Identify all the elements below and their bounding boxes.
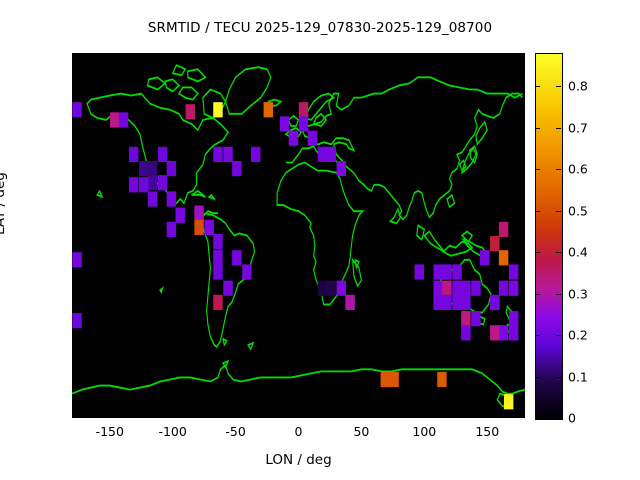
colorbar-tick-label: 0: [568, 411, 576, 426]
data-cell: [213, 264, 222, 279]
data-cell: [433, 295, 442, 310]
colorbar-tick-mark: [535, 294, 540, 295]
data-cell: [337, 161, 346, 176]
data-cell-layer: [72, 53, 525, 418]
colorbar-tick-label: 0.4: [568, 245, 588, 260]
data-cell: [119, 112, 128, 127]
data-cell: [72, 252, 81, 267]
data-cell: [110, 112, 119, 127]
data-cell: [433, 281, 442, 296]
data-cell: [471, 311, 480, 326]
data-cell: [167, 191, 176, 206]
data-cell: [509, 311, 518, 326]
colorbar-tick-mark: [556, 169, 561, 170]
data-cell: [148, 175, 157, 190]
x-axis-tick: -100: [158, 424, 186, 439]
colorbar-tick-label: 0.7: [568, 120, 588, 135]
colorbar-tick-mark: [535, 377, 540, 378]
data-cell: [509, 325, 518, 340]
data-cell: [186, 104, 195, 119]
colorbar-tick-mark: [556, 294, 561, 295]
data-cell: [442, 295, 451, 310]
x-axis-tick: 100: [412, 424, 436, 439]
data-cell: [158, 175, 167, 190]
colorbar-tick-mark: [535, 169, 540, 170]
x-axis-label: LON / deg: [72, 452, 525, 468]
data-cell: [232, 161, 241, 176]
colorbar-tick-label: 0.8: [568, 79, 588, 94]
colorbar-tick-mark: [556, 377, 561, 378]
x-axis-tick: 50: [353, 424, 369, 439]
data-cell: [175, 208, 184, 223]
data-cell: [490, 325, 499, 340]
data-cell: [499, 250, 508, 265]
data-cell: [129, 177, 138, 192]
data-cell: [452, 295, 461, 310]
data-cell: [504, 394, 513, 409]
data-cell: [299, 116, 308, 131]
data-cell: [213, 102, 222, 117]
data-cell: [251, 147, 260, 162]
data-cell: [167, 222, 176, 237]
data-cell: [433, 264, 442, 279]
data-cell: [223, 281, 232, 296]
colorbar-tick-mark: [556, 252, 561, 253]
figure-canvas: SRMTID / TECU 2025-129_07830-2025-129_08…: [0, 0, 640, 480]
data-cell: [345, 295, 354, 310]
data-cell: [452, 281, 461, 296]
data-cell: [204, 220, 213, 235]
data-cell: [452, 264, 461, 279]
data-cell: [264, 102, 273, 117]
data-cell: [499, 281, 508, 296]
data-cell: [139, 161, 148, 176]
x-axis-tick: -50: [225, 424, 245, 439]
data-cell: [461, 295, 470, 310]
data-cell: [72, 102, 81, 117]
data-cell: [213, 295, 222, 310]
data-cell: [381, 372, 390, 387]
data-cell: [461, 325, 470, 340]
colorbar-tick-mark: [535, 211, 540, 212]
data-cell: [471, 281, 480, 296]
data-cell: [72, 313, 81, 328]
data-cell: [337, 281, 346, 296]
data-cell: [299, 102, 308, 117]
data-cell: [499, 325, 508, 340]
colorbar-tick-label: 0.5: [568, 203, 588, 218]
data-cell: [194, 206, 203, 221]
x-axis-tick: 0: [295, 424, 303, 439]
data-cell: [139, 177, 148, 192]
data-cell: [148, 191, 157, 206]
data-cell: [289, 131, 298, 146]
data-cell: [490, 295, 499, 310]
colorbar-tick-mark: [535, 418, 540, 419]
chart-title: SRMTID / TECU 2025-129_07830-2025-129_08…: [0, 20, 640, 36]
data-cell: [326, 147, 335, 162]
data-cell: [490, 236, 499, 251]
data-cell: [242, 264, 251, 279]
data-cell: [148, 161, 157, 176]
colorbar-tick-mark: [535, 335, 540, 336]
data-cell: [318, 147, 327, 162]
data-cell: [509, 281, 518, 296]
data-cell: [461, 311, 470, 326]
colorbar-gradient: [536, 54, 562, 419]
data-cell: [326, 281, 335, 296]
colorbar-tick-mark: [556, 418, 561, 419]
data-cell: [223, 147, 232, 162]
data-cell: [213, 234, 222, 249]
data-cell: [442, 264, 451, 279]
data-cell: [461, 281, 470, 296]
colorbar-tick-mark: [556, 335, 561, 336]
data-cell: [167, 161, 176, 176]
colorbar-tick-mark: [556, 211, 561, 212]
map-plot-area: [72, 53, 525, 418]
colorbar-tick-mark: [535, 128, 540, 129]
data-cell: [499, 222, 508, 237]
data-cell: [308, 131, 317, 146]
x-axis-tick: 150: [475, 424, 499, 439]
data-cell: [129, 147, 138, 162]
data-cell: [318, 281, 327, 296]
data-cell: [280, 116, 289, 131]
colorbar-tick-mark: [556, 86, 561, 87]
colorbar-tick-mark: [535, 252, 540, 253]
data-cell: [232, 250, 241, 265]
data-cell: [415, 264, 424, 279]
data-cell: [509, 264, 518, 279]
colorbar-tick-label: 0.1: [568, 369, 588, 384]
y-axis-label: LAT / deg: [0, 172, 8, 235]
colorbar-tick-label: 0.3: [568, 286, 588, 301]
data-cell: [437, 372, 446, 387]
data-cell: [213, 147, 222, 162]
data-cell: [389, 372, 398, 387]
data-cell: [158, 147, 167, 162]
data-cell: [480, 250, 489, 265]
data-cell: [213, 250, 222, 265]
colorbar-tick-mark: [535, 86, 540, 87]
colorbar: [535, 53, 563, 420]
colorbar-tick-label: 0.6: [568, 162, 588, 177]
x-axis-tick: -150: [96, 424, 124, 439]
colorbar-tick-label: 0.2: [568, 328, 588, 343]
data-cell: [194, 220, 203, 235]
data-cell: [442, 281, 451, 296]
colorbar-tick-mark: [556, 128, 561, 129]
